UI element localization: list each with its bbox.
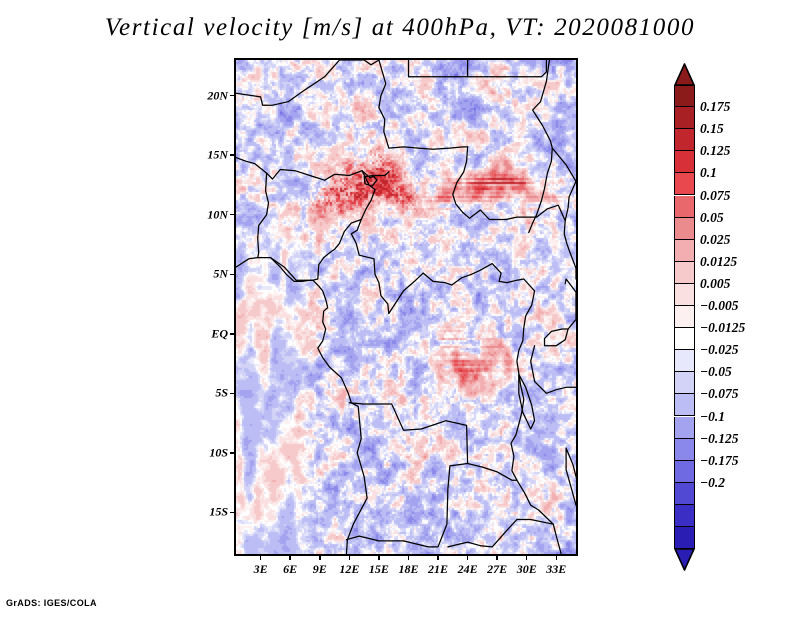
page-title: Vertical velocity [m/s] at 400hPa, VT: 2…: [0, 14, 800, 42]
colorbar-tick-label: −0.05: [700, 364, 732, 380]
colorbar-band: [674, 218, 695, 240]
y-axis-tick: [230, 333, 235, 335]
x-axis-tick: [437, 555, 439, 560]
colorbar-tick-label: 0.15: [700, 121, 724, 137]
y-axis-tick: [230, 393, 235, 395]
country-borders-overlay: [236, 60, 576, 554]
colorbar-tick-label: 0.025: [700, 232, 730, 248]
y-axis-tick: [230, 214, 235, 216]
colorbar-tick-label: 0.005: [700, 276, 730, 292]
colorbar-band: [674, 417, 695, 439]
x-axis-tick: [408, 555, 410, 560]
x-axis-tick: [260, 555, 262, 560]
x-axis-label: 21E: [428, 562, 448, 577]
y-axis-label: 5N: [192, 267, 228, 282]
x-axis-tick: [349, 555, 351, 560]
x-axis-tick: [467, 555, 469, 560]
border-line: [236, 258, 367, 554]
border-line: [468, 464, 517, 481]
x-axis-label: 18E: [398, 562, 418, 577]
border-line: [453, 147, 506, 220]
colorbar-tick-label: 0.175: [700, 99, 730, 115]
colorbar-band: [674, 394, 695, 416]
colorbar-band: [674, 284, 695, 306]
border-line: [506, 205, 565, 221]
colorbar-band: [674, 461, 695, 483]
colorbar-tick-label: 0.125: [700, 143, 730, 159]
x-axis-tick: [556, 555, 558, 560]
colorbar-band: [674, 483, 695, 505]
y-axis-label: 10S: [192, 445, 228, 460]
colorbar-tick-label: 0.05: [700, 210, 724, 226]
colorbar-tick-label: −0.125: [700, 431, 739, 447]
border-line: [340, 60, 379, 65]
x-axis-label: 3E: [254, 562, 268, 577]
x-axis-label: 33E: [546, 562, 566, 577]
y-axis-label: 5S: [192, 386, 228, 401]
y-axis-label: 10N: [192, 207, 228, 222]
border-line: [545, 329, 569, 346]
colorbar-band: [674, 240, 695, 262]
border-line: [480, 520, 553, 547]
colorbar-band: [674, 350, 695, 372]
border-line: [531, 346, 576, 394]
colorbar[interactable]: 0.1750.150.1250.10.0750.050.0250.01250.0…: [674, 63, 794, 548]
colorbar-band: [674, 527, 695, 549]
x-axis-label: 24E: [458, 562, 478, 577]
border-line: [565, 279, 576, 329]
border-line: [236, 60, 340, 105]
y-axis-label: EQ: [192, 326, 228, 341]
colorbar-tick-label: −0.2: [700, 475, 725, 491]
colorbar-band: [674, 85, 695, 107]
colorbar-band: [674, 173, 695, 195]
x-axis-label: 15E: [369, 562, 389, 577]
colorbar-band: [674, 107, 695, 129]
x-axis-tick: [496, 555, 498, 560]
colorbar-tick-label: −0.1: [700, 409, 725, 425]
footer-credit: GrADS: IGES/COLA: [6, 598, 97, 608]
border-line: [346, 536, 428, 547]
colorbar-band: [674, 151, 695, 173]
border-line: [566, 448, 576, 505]
colorbar-tick-label: −0.005: [700, 298, 739, 314]
colorbar-band: [674, 129, 695, 151]
colorbar-band: [674, 328, 695, 350]
colorbar-arrow-bottom-icon: [674, 549, 695, 571]
border-line: [349, 403, 467, 547]
x-axis-label: 30E: [517, 562, 537, 577]
x-axis-tick: [319, 555, 321, 560]
y-axis-tick: [230, 512, 235, 514]
y-axis-label: 20N: [192, 88, 228, 103]
colorbar-arrow-top-icon: [674, 63, 695, 85]
border-line: [448, 542, 481, 547]
y-axis-tick: [230, 274, 235, 276]
border-line: [468, 60, 547, 77]
border-line: [552, 148, 576, 268]
border-line: [529, 60, 553, 233]
border-line: [409, 60, 468, 77]
colorbar-tick-label: −0.075: [700, 386, 739, 402]
grads-figure: Vertical velocity [m/s] at 400hPa, VT: 2…: [0, 0, 800, 618]
border-line: [313, 220, 361, 281]
colorbar-tick-label: −0.175: [700, 453, 739, 469]
border-line: [271, 258, 313, 282]
border-line: [258, 173, 269, 258]
x-axis-tick: [526, 555, 528, 560]
colorbar-tick-label: −0.0125: [700, 320, 745, 336]
colorbar-band: [674, 262, 695, 284]
colorbar-tick-label: 0.0125: [700, 254, 737, 270]
colorbar-tick-label: 0.1: [700, 165, 717, 181]
border-line: [379, 60, 468, 149]
y-axis-tick: [230, 154, 235, 156]
x-axis-label: 12E: [339, 562, 359, 577]
colorbar-band: [674, 372, 695, 394]
y-axis-tick: [230, 452, 235, 454]
colorbar-tick-label: −0.025: [700, 342, 739, 358]
x-axis-tick: [289, 555, 291, 560]
border-line: [389, 264, 535, 314]
colorbar-band: [674, 306, 695, 328]
x-axis-label: 27E: [487, 562, 507, 577]
y-axis-label: 15S: [192, 505, 228, 520]
x-axis-label: 6E: [283, 562, 297, 577]
x-axis-label: 9E: [313, 562, 327, 577]
colorbar-band: [674, 505, 695, 527]
colorbar-tick-label: 0.075: [700, 188, 730, 204]
y-axis-tick: [230, 95, 235, 97]
colorbar-band: [674, 196, 695, 218]
x-axis-tick: [378, 555, 380, 560]
y-axis-label: 15N: [192, 148, 228, 163]
map-plot-area[interactable]: [234, 58, 578, 556]
colorbar-band: [674, 439, 695, 461]
border-line: [351, 171, 389, 314]
border-line: [519, 374, 535, 429]
